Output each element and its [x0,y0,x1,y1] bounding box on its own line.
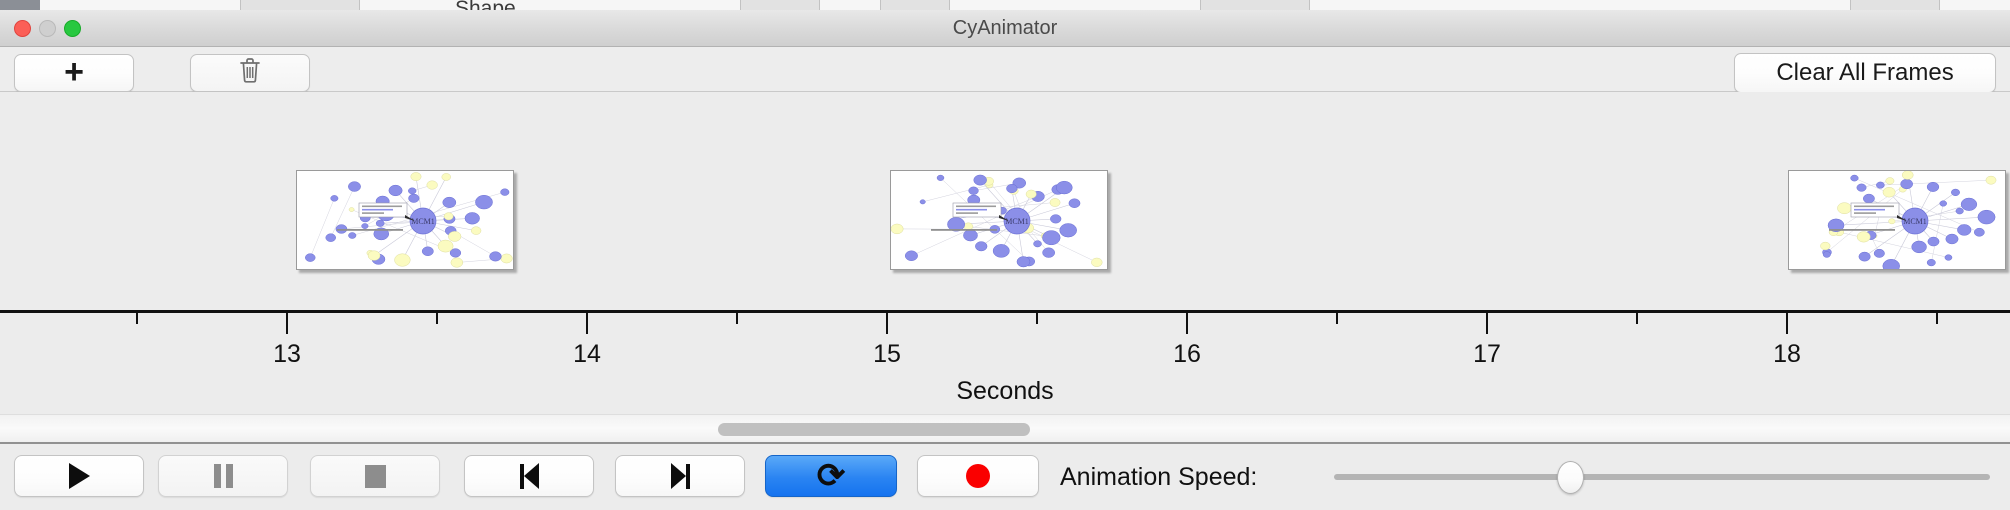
frames-toolbar: + Clear All Frames [0,47,2010,92]
timeline-axis-title: Seconds [0,377,2010,406]
timeline-tick-label: 17 [1473,340,1501,369]
frame-thumbnail[interactable]: MCM1 [296,170,514,270]
timeline-panel[interactable]: MCM1MCM1MCM1 2131415161718 Seconds [0,92,2010,412]
timeline-tick [586,313,588,334]
svg-text:MCM1: MCM1 [1903,217,1927,226]
timeline-tick [1636,313,1638,324]
skip-start-button[interactable] [464,455,594,497]
loop-icon: ⟳ [817,459,846,493]
cyanimator-window: Shape CyAnimator + Clear All Frames [0,0,2010,510]
title-bar: CyAnimator [0,10,2010,47]
play-button[interactable] [14,455,144,497]
network-graph: MCM1 [297,171,513,269]
plus-icon: + [64,61,84,85]
timeline-axis-line [0,310,2010,313]
network-graph: MCM1 [1789,171,2005,269]
timeline-tick [436,313,438,324]
skip-previous-icon [520,463,539,489]
timeline-scrollbar[interactable] [0,414,2010,444]
clear-all-frames-button[interactable]: Clear All Frames [1734,53,1996,93]
network-graph: MCM1 [891,171,1107,269]
timeline-tick [1336,313,1338,324]
timeline-tick [1486,313,1488,334]
timeline-tick-label: 16 [1173,340,1201,369]
timeline-tick [886,313,888,334]
window-title: CyAnimator [0,10,2010,47]
timeline-scrollbar-thumb[interactable] [718,423,1030,436]
stop-icon [365,465,386,488]
add-frame-button[interactable]: + [14,54,134,92]
timeline-tick-label: 14 [573,340,601,369]
timeline-tick-label: 13 [273,340,301,369]
frame-thumbnail[interactable]: MCM1 [890,170,1108,270]
animation-speed-slider-thumb[interactable] [1557,461,1584,494]
skip-end-button[interactable] [615,455,745,497]
maximize-button[interactable] [64,20,81,37]
timeline-tick [1036,313,1038,324]
playback-control-bar: ⟳ Animation Speed: [0,446,2010,510]
stop-button[interactable] [310,455,440,497]
timeline-tick [1936,313,1938,324]
animation-speed-label: Animation Speed: [1060,463,1257,492]
timeline-tick [136,313,138,324]
trash-icon [239,57,261,89]
close-button[interactable] [14,20,31,37]
pause-icon [214,464,233,488]
skip-next-icon [671,463,690,489]
svg-text:MCM1: MCM1 [411,217,435,226]
record-icon [966,464,990,488]
animation-speed-slider[interactable] [1334,474,1990,480]
pause-button[interactable] [158,455,288,497]
delete-frame-button[interactable] [190,54,310,92]
timeline-tick [736,313,738,324]
svg-text:MCM1: MCM1 [1005,217,1029,226]
timeline-tick-label: 18 [1773,340,1801,369]
timeline-tick [1786,313,1788,334]
clear-all-frames-label: Clear All Frames [1776,59,1953,87]
frame-thumbnail[interactable]: MCM1 [1788,170,2006,270]
timeline-tick-label: 15 [873,340,901,369]
timeline-tick [1186,313,1188,334]
play-icon [69,463,90,489]
window-controls [14,20,81,37]
minimize-button[interactable] [39,20,56,37]
timeline-tick [286,313,288,334]
record-button[interactable] [917,455,1039,497]
loop-button[interactable]: ⟳ [765,455,897,497]
